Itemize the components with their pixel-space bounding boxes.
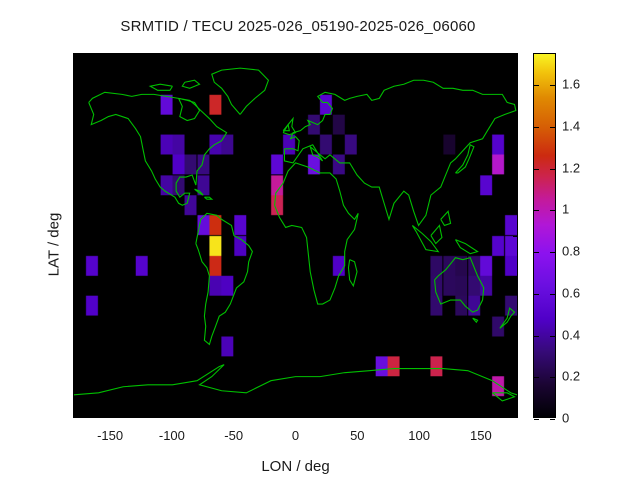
y-axis-tick	[73, 276, 78, 277]
y-axis-tick	[513, 154, 518, 155]
x-axis-tick	[234, 413, 235, 418]
x-axis-tick	[357, 413, 358, 418]
colorbar-tick	[550, 127, 555, 128]
y-axis-tick	[513, 357, 518, 358]
colorbar-tick	[550, 210, 555, 211]
y-axis-tick	[513, 398, 518, 399]
colorbar-tick-label: 0	[562, 411, 569, 426]
colorbar-tick-label: 1.2	[562, 160, 580, 175]
colorbar-tick	[534, 419, 539, 420]
x-axis-tick-label: -50	[224, 428, 243, 443]
x-axis-tick	[419, 413, 420, 418]
colorbar-tick	[534, 294, 539, 295]
y-axis-tick	[73, 114, 78, 115]
x-axis-tick	[296, 53, 297, 58]
colorbar-tick	[550, 377, 555, 378]
colorbar-tick	[534, 336, 539, 337]
colorbar-tick-label: 0.4	[562, 327, 580, 342]
colorbar-tick-label: 1.4	[562, 119, 580, 134]
x-axis-tick	[357, 53, 358, 58]
x-axis-title: LON / deg	[73, 458, 518, 475]
colorbar-tick-label: 1	[562, 202, 569, 217]
x-axis-tick	[481, 53, 482, 58]
y-axis-tick	[73, 154, 78, 155]
x-axis-tick	[110, 53, 111, 58]
colorbar-tick	[550, 85, 555, 86]
y-axis-tick	[73, 398, 78, 399]
colorbar-tick	[534, 210, 539, 211]
x-axis-tick-label: -150	[97, 428, 123, 443]
figure-root: SRMTID / TECU 2025-026_05190-2025-026_06…	[0, 0, 640, 480]
y-axis-tick	[73, 236, 78, 237]
x-axis-tick	[234, 53, 235, 58]
colorbar	[533, 53, 556, 418]
x-axis-tick	[172, 413, 173, 418]
y-axis-tick	[513, 73, 518, 74]
colorbar-tick	[534, 85, 539, 86]
colorbar-tick-label: 1.6	[562, 77, 580, 92]
y-axis-tick	[73, 73, 78, 74]
colorbar-tick	[550, 169, 555, 170]
y-axis-tick	[73, 195, 78, 196]
x-axis-tick	[481, 413, 482, 418]
x-axis-tick-label: 150	[470, 428, 492, 443]
x-axis-tick-label: 100	[408, 428, 430, 443]
colorbar-tick-label: 0.8	[562, 244, 580, 259]
colorbar-tick	[534, 252, 539, 253]
colorbar-tick-label: 0.2	[562, 369, 580, 384]
x-axis-tick	[110, 413, 111, 418]
x-axis-tick	[419, 53, 420, 58]
y-axis-tick	[513, 276, 518, 277]
x-axis-tick-label: 50	[350, 428, 364, 443]
y-axis-tick	[513, 114, 518, 115]
colorbar-tick	[534, 169, 539, 170]
y-axis-tick	[73, 317, 78, 318]
y-axis-tick	[513, 195, 518, 196]
x-axis-tick-label: 0	[292, 428, 299, 443]
colorbar-tick	[534, 377, 539, 378]
colorbar-tick	[550, 419, 555, 420]
colorbar-tick	[534, 127, 539, 128]
y-axis-tick	[513, 236, 518, 237]
y-axis-title: LAT / deg	[46, 185, 63, 305]
colorbar-tick	[550, 294, 555, 295]
colorbar-gradient	[534, 54, 555, 417]
colorbar-tick	[550, 336, 555, 337]
x-axis-tick-label: -100	[159, 428, 185, 443]
y-axis-tick	[73, 357, 78, 358]
x-axis-tick	[296, 413, 297, 418]
y-axis-tick	[513, 317, 518, 318]
colorbar-tick-label: 0.6	[562, 285, 580, 300]
colorbar-tick	[550, 252, 555, 253]
x-axis-tick	[172, 53, 173, 58]
